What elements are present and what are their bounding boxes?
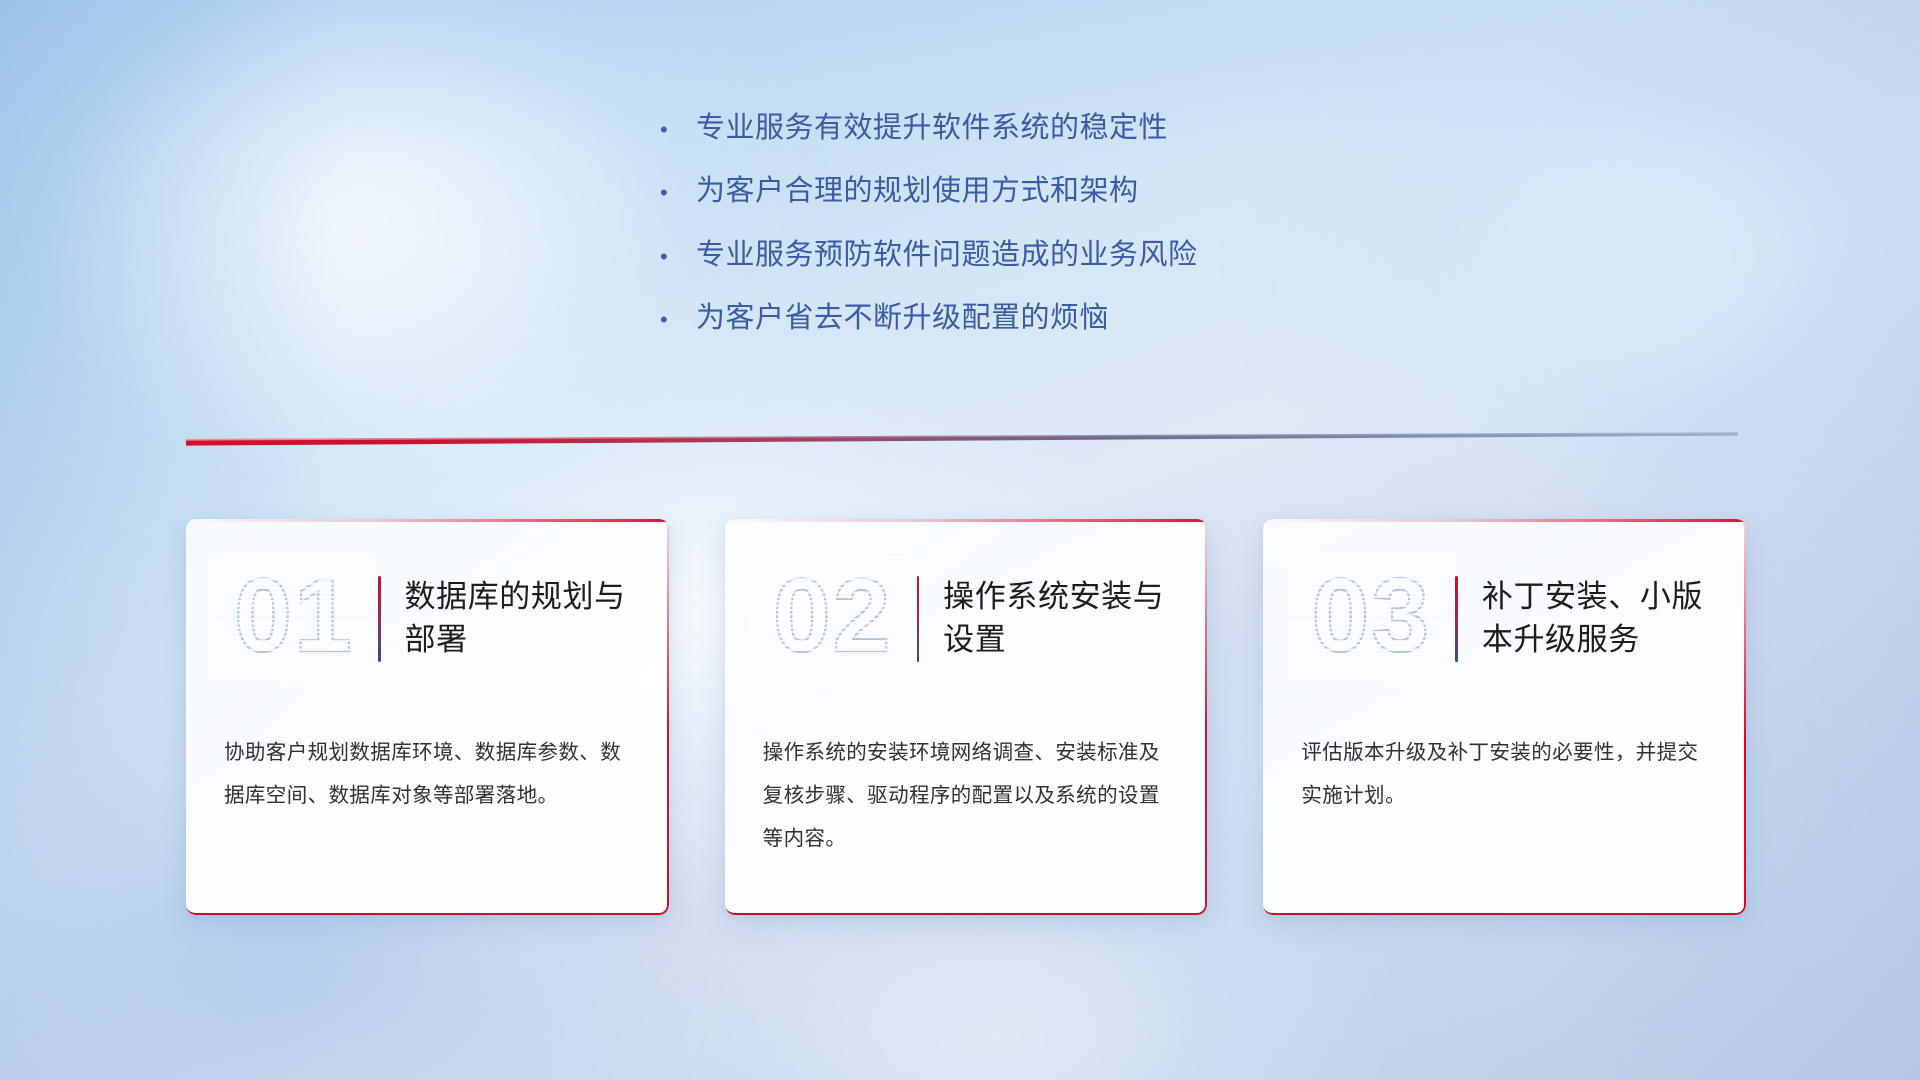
card-body-03: 评估版本升级及补丁安装的必要性，并提交实施计划。	[1263, 689, 1746, 817]
slide-canvas: • 专业服务有效提升软件系统的稳定性 • 为客户合理的规划使用方式和架构 • 专…	[0, 0, 1920, 1080]
card-title-rule	[1455, 576, 1458, 662]
card-header: 02 操作系统安装与设置	[725, 519, 1208, 689]
service-card-02[interactable]: 02 操作系统安装与设置 操作系统的安装环境网络调查、安装标准及复核步骤、驱动程…	[725, 519, 1208, 915]
list-item: • 为客户省去不断升级配置的烦恼	[660, 300, 1420, 336]
service-card-03[interactable]: 03 补丁安装、小版本升级服务 评估版本升级及补丁安装的必要性，并提交实施计划。	[1263, 519, 1746, 915]
list-item: • 为客户合理的规划使用方式和架构	[660, 173, 1420, 209]
card-title-rule	[378, 576, 381, 662]
card-header: 01 数据库的规划与部署	[186, 519, 669, 689]
card-number-01: 01	[214, 560, 374, 678]
service-card-01[interactable]: 01 数据库的规划与部署 协助客户规划数据库环境、数据库参数、数据库空间、数据库…	[186, 519, 669, 915]
card-top-accent	[725, 519, 1208, 522]
card-title-02: 操作系统安装与设置	[943, 576, 1173, 662]
bullet-text-2: 为客户合理的规划使用方式和架构	[696, 173, 1139, 209]
list-item: • 专业服务有效提升软件系统的稳定性	[660, 110, 1420, 146]
card-body-02: 操作系统的安装环境网络调查、安装标准及复核步骤、驱动程序的配置以及系统的设置等内…	[725, 689, 1208, 860]
bullet-dot-icon: •	[660, 119, 696, 141]
card-body-01: 协助客户规划数据库环境、数据库参数、数据库空间、数据库对象等部署落地。	[186, 689, 669, 817]
bullet-text-3: 专业服务预防软件问题造成的业务风险	[696, 237, 1198, 273]
benefits-bullet-list: • 专业服务有效提升软件系统的稳定性 • 为客户合理的规划使用方式和架构 • 专…	[660, 110, 1420, 363]
card-title-01: 数据库的规划与部署	[405, 576, 635, 662]
bullet-dot-icon: •	[660, 182, 696, 204]
card-number-02: 02	[753, 560, 913, 678]
card-title-03: 补丁安装、小版本升级服务	[1482, 576, 1712, 662]
card-top-accent	[1263, 519, 1746, 522]
card-title-rule	[917, 576, 920, 662]
bullet-text-4: 为客户省去不断升级配置的烦恼	[696, 300, 1109, 336]
bullet-dot-icon: •	[660, 309, 696, 331]
card-number-03: 03	[1291, 560, 1451, 678]
card-header: 03 补丁安装、小版本升级服务	[1263, 519, 1746, 689]
service-cards-row: 01 数据库的规划与部署 协助客户规划数据库环境、数据库参数、数据库空间、数据库…	[186, 519, 1746, 915]
bullet-dot-icon: •	[660, 246, 696, 268]
card-top-accent	[186, 519, 669, 522]
bullet-text-1: 专业服务有效提升软件系统的稳定性	[696, 110, 1168, 146]
list-item: • 专业服务预防软件问题造成的业务风险	[660, 237, 1420, 273]
